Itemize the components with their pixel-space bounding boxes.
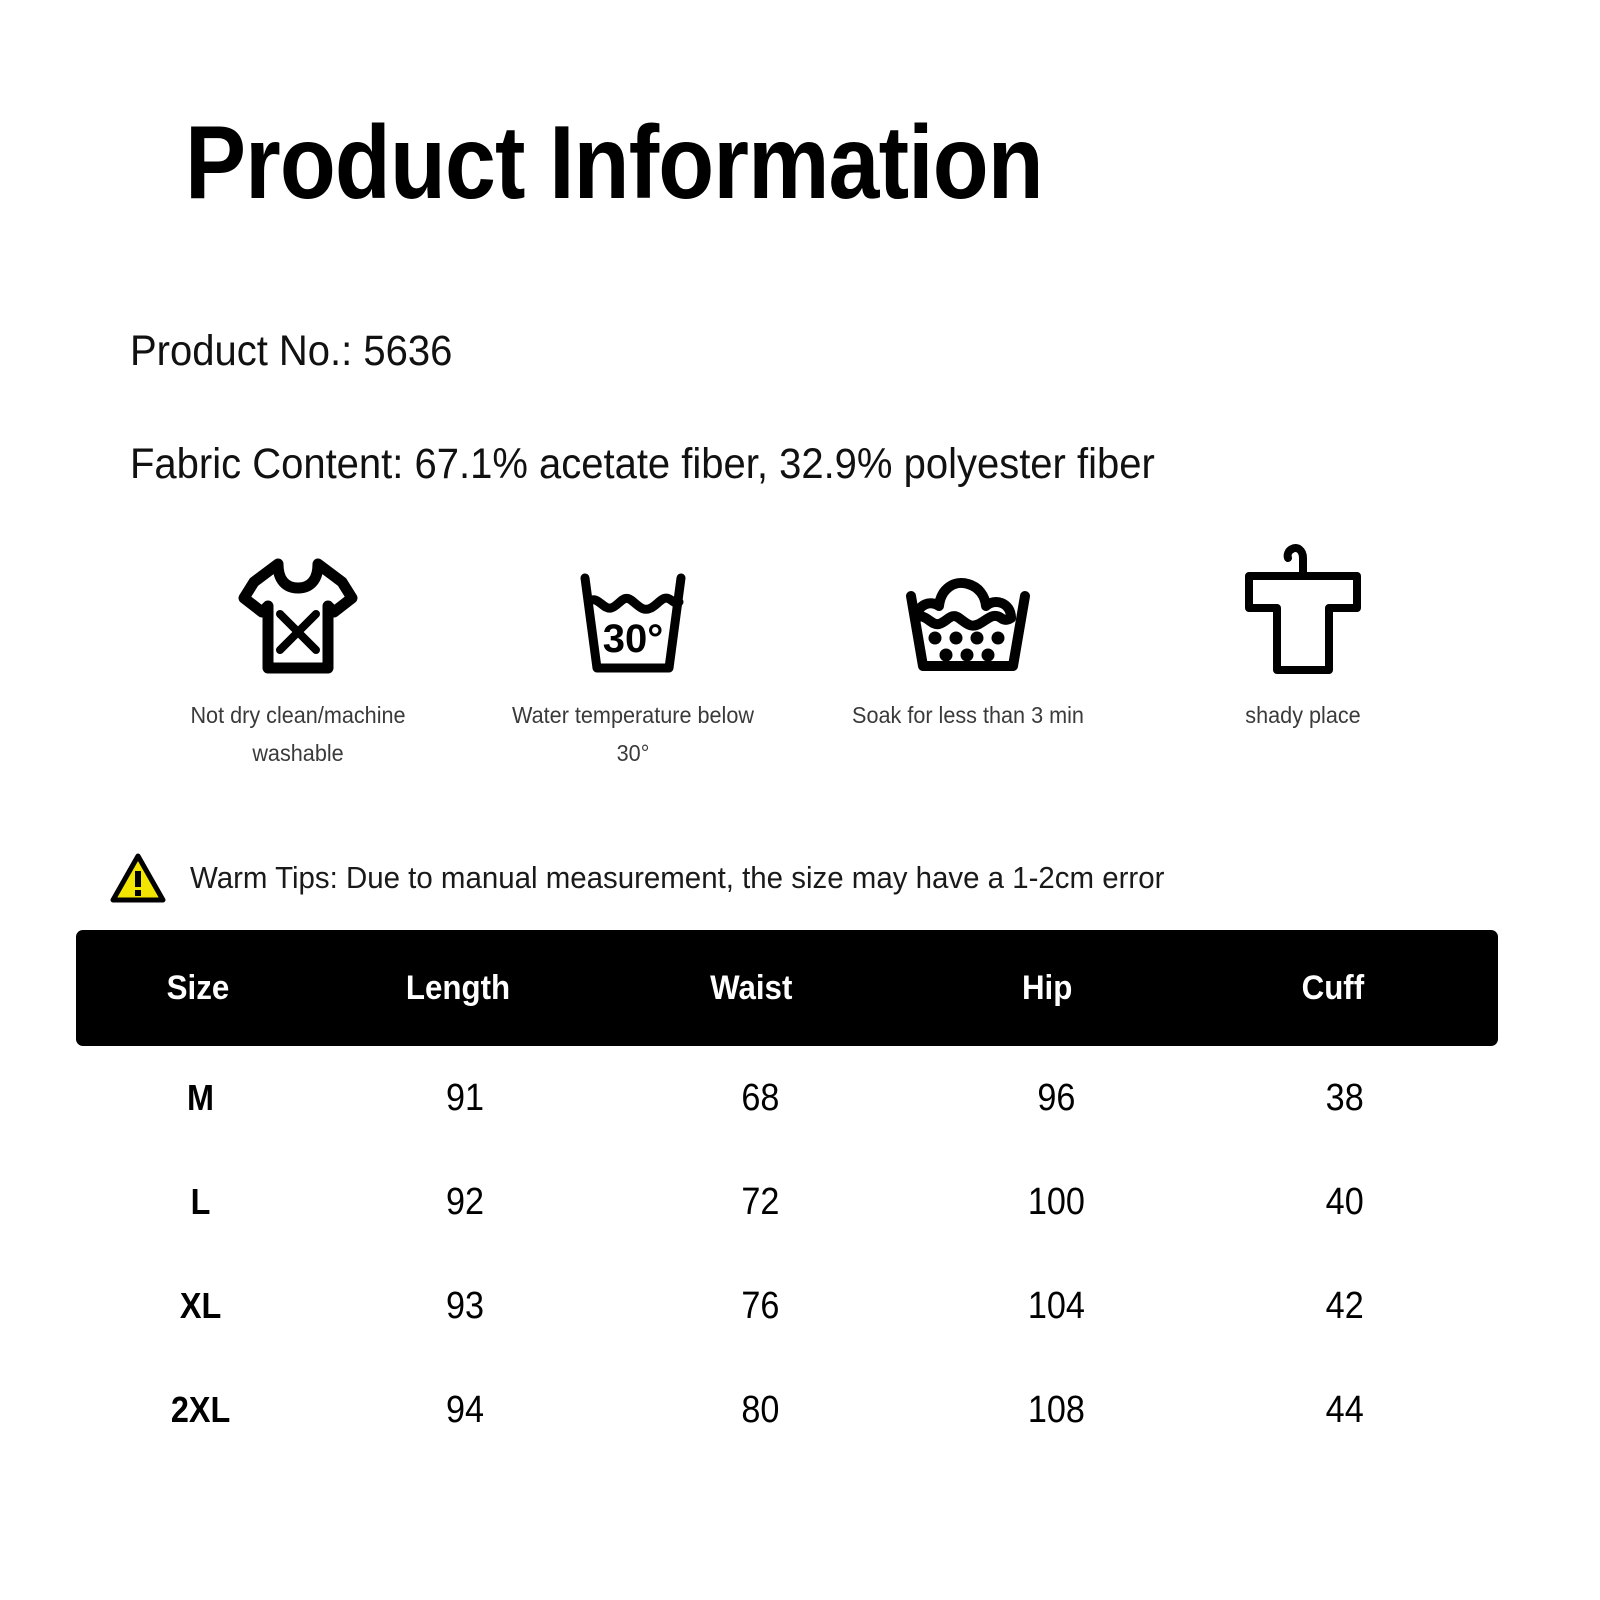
cell-waist: 68 — [622, 1077, 888, 1120]
cell-waist: 76 — [622, 1285, 888, 1328]
care-label-shady-place: shady place — [1166, 696, 1439, 734]
cell-hip: 104 — [918, 1285, 1184, 1328]
warning-triangle-icon — [110, 852, 166, 904]
cell-cuff: 44 — [1214, 1389, 1483, 1432]
column-header-length: Length — [312, 969, 587, 1008]
care-label-water-temperature: Water temperature below 30° — [496, 696, 769, 772]
cell-size: M — [87, 1077, 292, 1119]
size-table-header: Size Length Waist Hip Cuff — [76, 930, 1498, 1046]
page-title: Product Information — [185, 104, 1043, 223]
hanger-shirt-icon — [1233, 540, 1373, 680]
cell-cuff: 38 — [1214, 1077, 1483, 1120]
cell-size: 2XL — [87, 1389, 292, 1431]
cell-cuff: 40 — [1214, 1181, 1483, 1224]
no-dry-clean-tshirt-icon — [232, 540, 364, 680]
wash-tub-30-degree-icon: 30° — [567, 540, 699, 680]
column-header-cuff: Cuff — [1200, 969, 1485, 1008]
cell-waist: 72 — [622, 1181, 888, 1224]
care-item-no-dry-clean: Not dry clean/machine washable — [130, 540, 465, 772]
size-table: Size Length Waist Hip Cuff M 91 68 96 38… — [76, 930, 1498, 1462]
cell-waist: 80 — [622, 1389, 888, 1432]
care-item-shady-place: shady place — [1135, 540, 1470, 772]
cell-length: 91 — [319, 1077, 593, 1120]
soak-basin-icon — [893, 540, 1043, 680]
column-header-hip: Hip — [904, 969, 1176, 1008]
care-item-water-temperature: 30° Water temperature below 30° — [465, 540, 800, 772]
product-number-line: Product No.: 5636 — [130, 327, 452, 376]
care-instructions-row: Not dry clean/machine washable 30° Water… — [130, 540, 1470, 772]
column-header-size: Size — [85, 969, 291, 1008]
care-label-no-dry-clean: Not dry clean/machine washable — [161, 696, 434, 772]
fabric-content-line: Fabric Content: 67.1% acetate fiber, 32.… — [130, 440, 1155, 489]
cell-hip: 108 — [918, 1389, 1184, 1432]
cell-hip: 100 — [918, 1181, 1184, 1224]
cell-cuff: 42 — [1214, 1285, 1483, 1328]
cell-length: 92 — [319, 1181, 593, 1224]
table-row: 2XL 94 80 108 44 — [76, 1358, 1498, 1462]
cell-size: XL — [87, 1285, 292, 1327]
warm-tip: Warm Tips: Due to manual measurement, th… — [110, 852, 1216, 904]
cell-size: L — [87, 1181, 292, 1223]
table-row: L 92 72 100 40 — [76, 1150, 1498, 1254]
column-header-waist: Waist — [611, 969, 881, 1008]
svg-text:30°: 30° — [602, 617, 663, 661]
cell-hip: 96 — [918, 1077, 1184, 1120]
table-row: M 91 68 96 38 — [76, 1046, 1498, 1150]
care-item-soak: Soak for less than 3 min — [800, 540, 1135, 772]
care-label-soak: Soak for less than 3 min — [831, 696, 1104, 734]
table-row: XL 93 76 104 42 — [76, 1254, 1498, 1358]
product-information-page: Product Information Product No.: 5636 Fa… — [0, 0, 1600, 1600]
cell-length: 94 — [319, 1389, 593, 1432]
cell-length: 93 — [319, 1285, 593, 1328]
warm-tip-text: Warm Tips: Due to manual measurement, th… — [190, 860, 1164, 896]
